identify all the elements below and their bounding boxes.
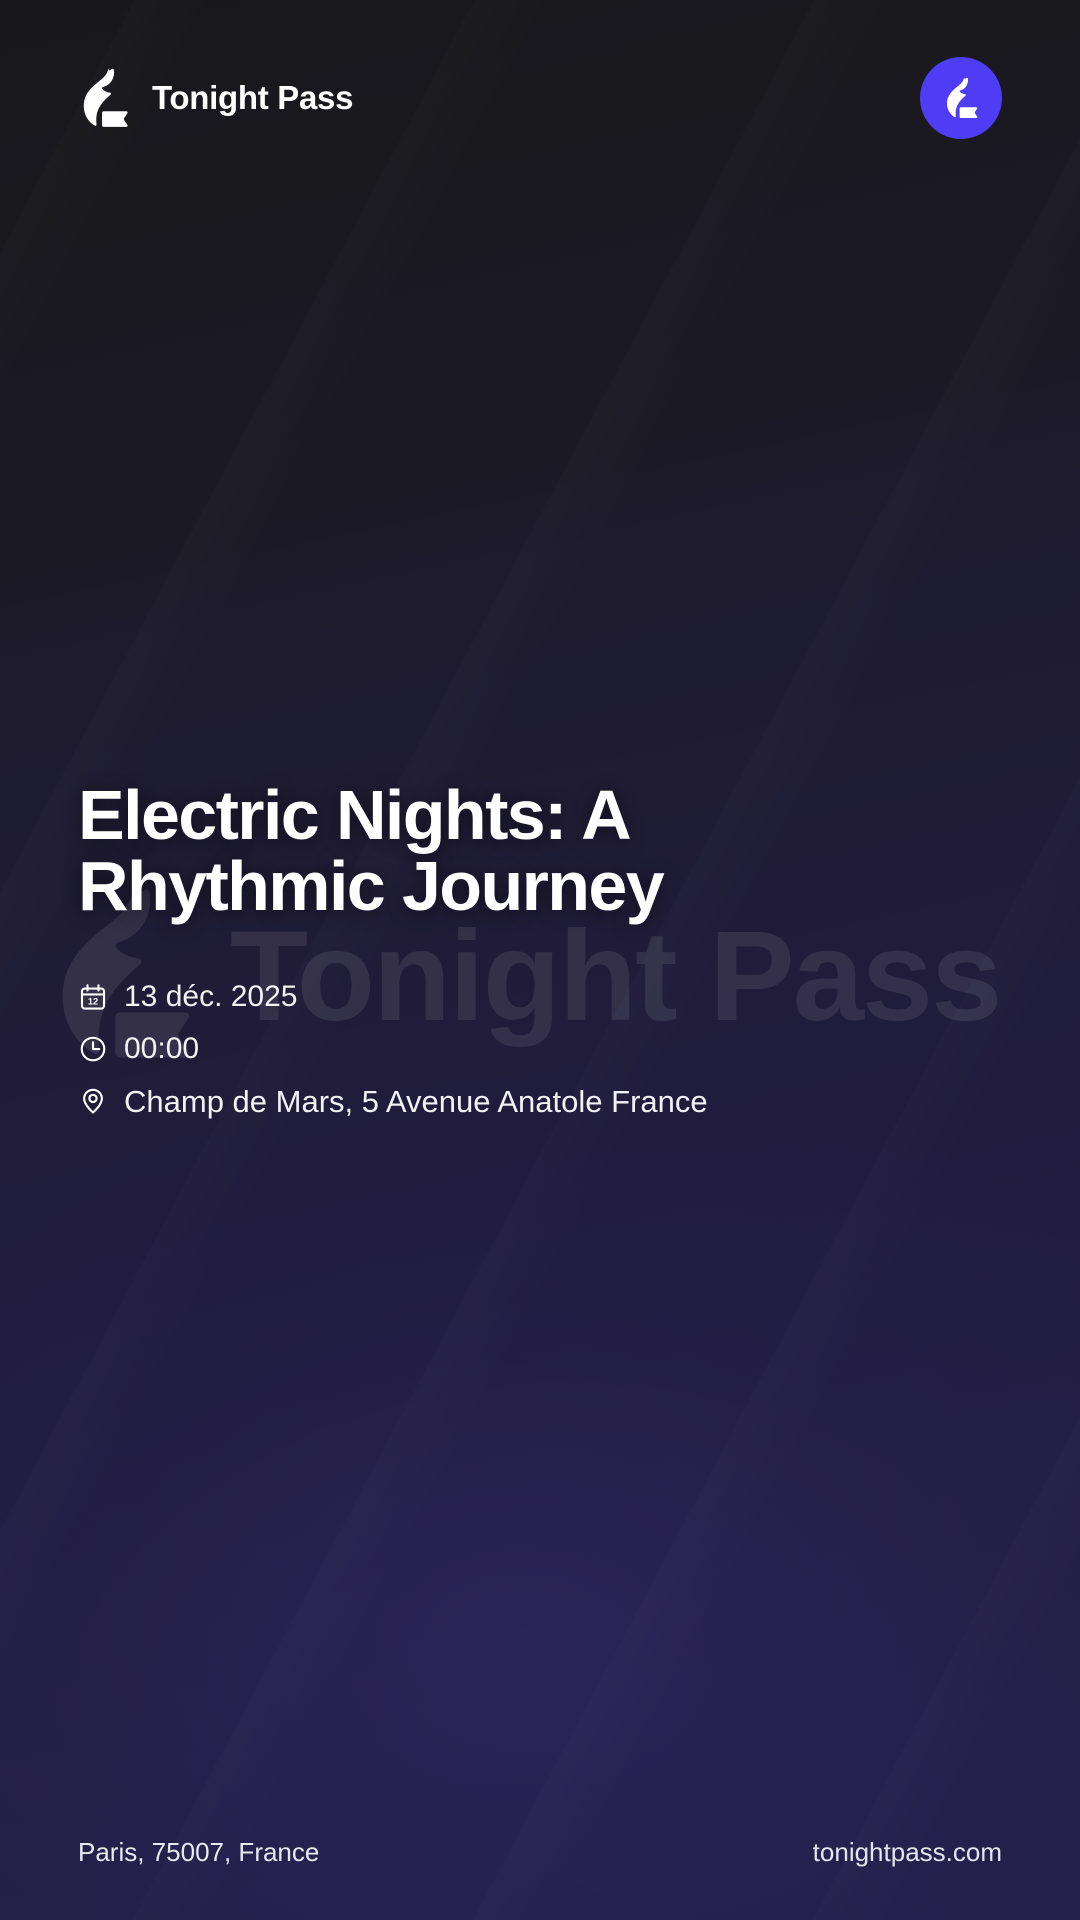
brand-name: Tonight Pass [152, 79, 353, 117]
event-location-row: Champ de Mars, 5 Avenue Anatole France [78, 1083, 1018, 1120]
poster-header: Tonight Pass [0, 0, 1080, 196]
event-title: Electric Nights: A Rhythmic Journey [78, 780, 778, 923]
event-meta-list: 12 13 déc. 2025 00:00 [78, 979, 1018, 1120]
background-glow [0, 1075, 1080, 1920]
event-poster: Tonight Pass Tonight Pass Electric Night… [0, 0, 1080, 1920]
svg-text:12: 12 [88, 996, 98, 1006]
event-date-value: 13 déc. 2025 [124, 979, 297, 1015]
calendar-icon: 12 [78, 982, 108, 1012]
poster-footer: Paris, 75007, France tonightpass.com [78, 1837, 1002, 1868]
footer-website[interactable]: tonightpass.com [813, 1837, 1002, 1868]
event-time-row: 00:00 [78, 1031, 1018, 1067]
event-date-row: 12 13 déc. 2025 [78, 979, 1018, 1015]
event-time-value: 00:00 [124, 1031, 199, 1067]
footer-city: Paris, 75007, France [78, 1837, 319, 1868]
map-pin-icon [78, 1086, 108, 1116]
clock-icon [78, 1034, 108, 1064]
tonightpass-flame-icon [943, 76, 979, 120]
brand-badge[interactable] [920, 57, 1002, 139]
event-details: Electric Nights: A Rhythmic Journey 12 1… [78, 780, 1018, 1120]
event-location-value: Champ de Mars, 5 Avenue Anatole France [124, 1083, 708, 1120]
brand-lockup: Tonight Pass [78, 67, 353, 129]
tonightpass-flame-icon [78, 67, 130, 129]
